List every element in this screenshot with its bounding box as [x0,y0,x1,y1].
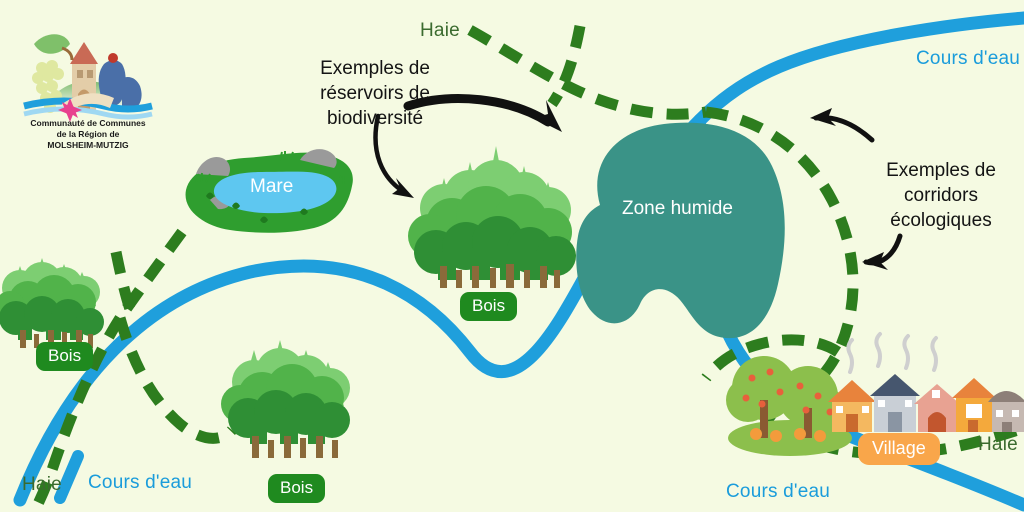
logo-line-3: MOLSHEIM-MUTZIG [8,140,168,151]
hedge-label-top: Haie [420,20,460,42]
logo-stem [62,48,72,60]
annotation-corridors-line-3: écologiques [866,208,1016,233]
water-label-bottom-left: Cours d'eau [88,472,192,494]
logo: Communauté de Communes de la Région de M… [8,6,168,166]
hedge-label-bottom-right: Haie [978,434,1018,456]
annotation-reservoirs: Exemples de réservoirs de biodiversité [285,56,465,131]
logo-caption: Communauté de Communes de la Région de M… [8,118,168,152]
annotation-corridors: Exemples de corridors écologiques [866,158,1016,233]
annotation-corridors-line-1: Exemples de [866,158,1016,183]
annotation-reservoirs-line-3: biodiversité [285,106,465,131]
annotation-reservoirs-line-2: réservoirs de [285,81,465,106]
annotation-reservoirs-line-1: Exemples de [285,56,465,81]
annotation-corridors-line-2: corridors [866,183,1016,208]
water-label-bottom-right: Cours d'eau [726,481,830,503]
logo-line-1: Communauté de Communes [8,118,168,129]
logo-line-2: de la Région de [8,129,168,140]
diagram-canvas: Zone humide Mare [0,0,1024,512]
logo-leaf [34,34,70,54]
hedge-label-bottom-left: Haie [22,474,62,496]
water-label-top-right: Cours d'eau [916,48,1020,70]
